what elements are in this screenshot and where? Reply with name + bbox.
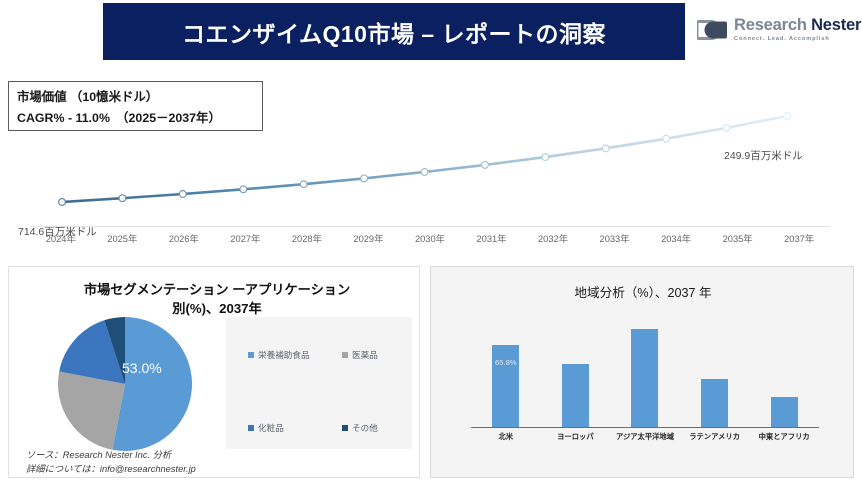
line-marker bbox=[482, 162, 489, 169]
line-marker bbox=[723, 125, 730, 132]
regional-analysis-panel: 地域分析（%）、2037 年 65.8% 北米ヨーロッパアジア太平洋地域ラテンア… bbox=[430, 266, 854, 478]
bar-value-label-0: 65.8% bbox=[495, 358, 517, 367]
legend-label-1: 医薬品 bbox=[352, 349, 378, 361]
legend-swatch-icon-1 bbox=[342, 352, 348, 358]
bar-3 bbox=[701, 379, 728, 428]
logo-text: Research Nester Connect. Lead. Accomplis… bbox=[734, 17, 861, 42]
legend-item-1: 医薬品 bbox=[342, 349, 378, 361]
axis-tick-7: 2031年 bbox=[461, 231, 523, 248]
pie-slices bbox=[58, 317, 192, 451]
bar-category-label-2: アジア太平洋地域 bbox=[610, 432, 680, 442]
bar-column-1 bbox=[548, 364, 602, 428]
report-infographic: コエンザイムQ10市場 – レポートの洞察 Research Nester Co… bbox=[0, 0, 862, 485]
pie-data-label: 53.0% bbox=[122, 360, 162, 376]
bar-chart-plot: 65.8% bbox=[471, 315, 819, 427]
bar-column-2 bbox=[618, 329, 672, 427]
pie-chart-title: 市場セグメンテーション ーアプリケーション 別(%)、2037年 bbox=[27, 280, 407, 318]
axis-tick-12: 2037年 bbox=[768, 231, 830, 248]
logo-name: Research Nester bbox=[734, 17, 861, 34]
line-end-label: 249.9百万米ドル bbox=[724, 148, 803, 163]
bar-column-0: 65.8% bbox=[479, 345, 533, 427]
research-nester-logo: Research Nester Connect. Lead. Accomplis… bbox=[697, 12, 857, 48]
line-marker bbox=[784, 113, 791, 120]
axis-tick-5: 2029年 bbox=[338, 231, 400, 248]
axis-tick-2: 2026年 bbox=[153, 231, 215, 248]
axis-tick-1: 2025年 bbox=[92, 231, 154, 248]
legend-label-0: 栄養補助食品 bbox=[258, 349, 310, 361]
axis-tick-0: 2024年 bbox=[30, 231, 92, 248]
source-line-1: ソース：Research Nester Inc. 分析 bbox=[26, 450, 171, 460]
bar-category-label-0: 北米 bbox=[471, 432, 541, 442]
bar-chart-axis-line bbox=[471, 427, 819, 428]
legend-swatch-icon-3 bbox=[342, 425, 348, 431]
pie-title-line1: 市場セグメンテーション ーアプリケーション bbox=[84, 282, 350, 297]
logo-tagline: Connect. Lead. Accomplish bbox=[734, 37, 861, 43]
axis-tick-8: 2032年 bbox=[522, 231, 584, 248]
axis-tick-10: 2034年 bbox=[645, 231, 707, 248]
legend-label-2: 化粧品 bbox=[258, 422, 284, 434]
axis-tick-3: 2027年 bbox=[215, 231, 277, 248]
bar-0: 65.8% bbox=[492, 345, 519, 427]
bar-1 bbox=[562, 364, 589, 428]
line-marker bbox=[59, 199, 66, 206]
bar-chart-title: 地域分析（%）、2037 年 bbox=[431, 282, 855, 301]
axis-tick-6: 2030年 bbox=[399, 231, 461, 248]
pie-legend: 栄養補助食品 医薬品 化粧品 その他 bbox=[226, 317, 412, 449]
line-marker bbox=[361, 175, 368, 182]
line-marker bbox=[179, 191, 186, 198]
axis-tick-11: 2035年 bbox=[707, 231, 769, 248]
axis-tick-4: 2028年 bbox=[276, 231, 338, 248]
line-series-path bbox=[62, 116, 787, 202]
pie-title-line2: 別(%)、2037年 bbox=[172, 301, 261, 316]
bar-column-3 bbox=[688, 379, 742, 428]
line-marker bbox=[119, 195, 126, 202]
line-marker bbox=[300, 181, 307, 188]
legend-item-0: 栄養補助食品 bbox=[248, 349, 310, 361]
line-markers bbox=[59, 113, 791, 206]
legend-label-3: その他 bbox=[352, 422, 378, 434]
logo-name-second: Nester bbox=[811, 16, 861, 34]
page-title: コエンザイムQ10市場 – レポートの洞察 bbox=[182, 15, 606, 49]
pie-chart-svg bbox=[57, 316, 193, 452]
bar-category-label-1: ヨーロッパ bbox=[541, 432, 611, 442]
bar-chart-x-labels: 北米ヨーロッパアジア太平洋地域ラテンアメリカ中東とアフリカ bbox=[471, 432, 819, 442]
line-marker bbox=[602, 145, 609, 152]
logo-name-first: Research bbox=[734, 16, 807, 34]
line-marker bbox=[542, 154, 549, 161]
line-marker bbox=[663, 135, 670, 142]
source-line-2: 詳細については：info@researchnester.jp bbox=[26, 464, 196, 474]
axis-tick-9: 2033年 bbox=[584, 231, 646, 248]
bar-4 bbox=[771, 397, 798, 427]
legend-swatch-icon-2 bbox=[248, 425, 254, 431]
line-marker bbox=[421, 169, 428, 176]
legend-item-2: 化粧品 bbox=[248, 422, 284, 434]
bar-category-label-4: 中東とアフリカ bbox=[749, 432, 819, 442]
bar-column-4 bbox=[757, 397, 811, 427]
line-chart-x-axis: 2024年2025年2026年2027年2028年2029年2030年2031年… bbox=[30, 226, 830, 248]
header-banner: コエンザイムQ10市場 – レポートの洞察 bbox=[103, 3, 685, 60]
bar-2 bbox=[631, 329, 658, 427]
legend-item-3: その他 bbox=[342, 422, 378, 434]
chain-link-icon bbox=[697, 19, 727, 41]
segmentation-panel: 市場セグメンテーション ーアプリケーション 別(%)、2037年 栄養補助食品 … bbox=[8, 266, 420, 478]
line-marker bbox=[240, 186, 247, 193]
source-note: ソース：Research Nester Inc. 分析 詳細については：info… bbox=[26, 448, 196, 477]
legend-swatch-icon-0 bbox=[248, 352, 254, 358]
bar-category-label-3: ラテンアメリカ bbox=[680, 432, 750, 442]
